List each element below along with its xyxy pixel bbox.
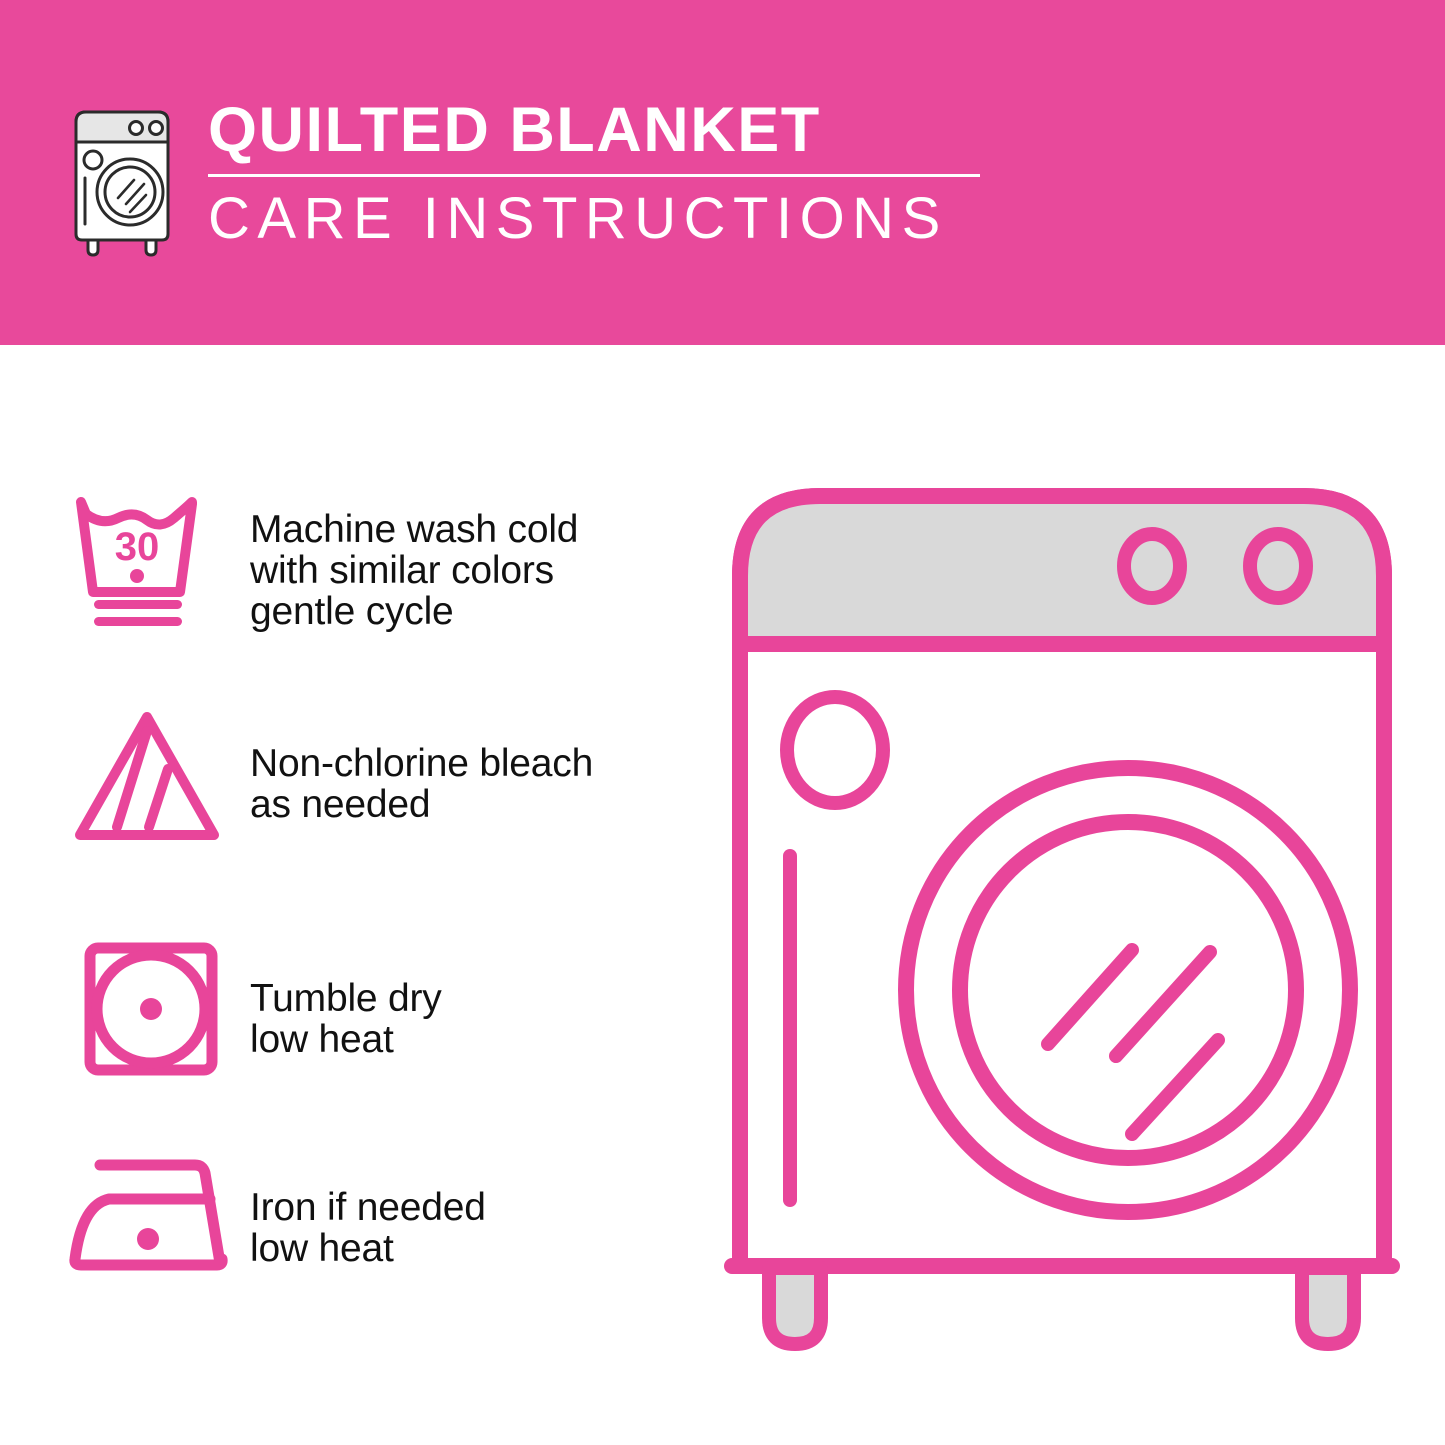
tumble-dry-low-icon (62, 930, 232, 1090)
care-item-text: Machine wash cold with similar colors ge… (232, 480, 682, 632)
title-divider (208, 174, 980, 177)
care-text-line: low heat (250, 1228, 682, 1269)
care-item-bleach: Non-chlorine bleach as needed (62, 695, 682, 855)
care-text-line: Iron if needed (250, 1187, 682, 1228)
wash-tub-30-gentle-icon: 30 (62, 480, 232, 640)
wash-temperature-label: 30 (115, 525, 160, 569)
header-content: QUILTED BLANKET CARE INSTRUCTIONS (62, 92, 992, 267)
care-item-tumble-dry: Tumble dry low heat (62, 930, 682, 1090)
header-title-group: QUILTED BLANKET CARE INSTRUCTIONS (208, 92, 992, 251)
non-chlorine-bleach-triangle-icon (62, 695, 232, 855)
care-instructions-infographic: QUILTED BLANKET CARE INSTRUCTIONS 30 (0, 0, 1445, 1445)
leg-right (1302, 1268, 1354, 1344)
care-item-text: Tumble dry low heat (232, 930, 682, 1060)
page-title: QUILTED BLANKET (208, 94, 992, 166)
iron-low-heat-icon (62, 1135, 232, 1295)
detergent-drawer-knob (787, 697, 883, 803)
care-text-line: Tumble dry (250, 978, 682, 1019)
care-text-line: with similar colors (250, 550, 682, 591)
care-text-line: Non-chlorine bleach (250, 743, 682, 784)
washing-machine-icon (62, 100, 182, 260)
care-text-line: low heat (250, 1019, 682, 1060)
care-item-text: Non-chlorine bleach as needed (232, 695, 682, 825)
care-item-machine-wash: 30 Machine wash cold with similar colors… (62, 480, 682, 640)
knob-left (1124, 534, 1180, 598)
care-text-line: gentle cycle (250, 591, 682, 632)
care-item-iron: Iron if needed low heat (62, 1135, 682, 1295)
leg-left (769, 1268, 821, 1344)
header-band: QUILTED BLANKET CARE INSTRUCTIONS (0, 0, 1445, 345)
care-text-line: Machine wash cold (250, 509, 682, 550)
knob-right (1250, 534, 1306, 598)
door-inner-ring (960, 822, 1296, 1158)
front-load-washing-machine-illustration (722, 478, 1402, 1358)
page-subtitle: CARE INSTRUCTIONS (208, 187, 992, 251)
care-item-text: Iron if needed low heat (232, 1135, 682, 1269)
care-text-line: as needed (250, 784, 682, 825)
